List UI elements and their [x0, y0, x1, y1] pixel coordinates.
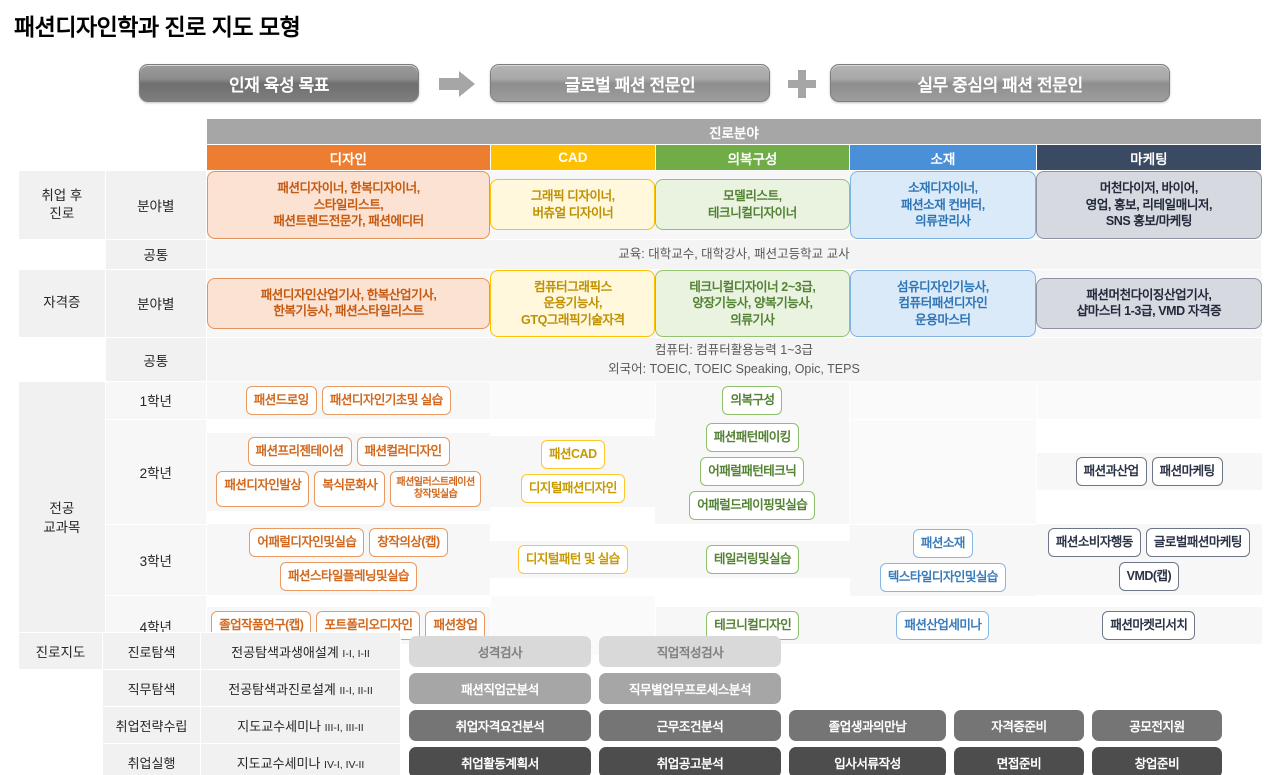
course-box[interactable]: 테일러링및실습	[706, 545, 799, 574]
goal-secondary-pill: 글로벌 패션 전문인	[490, 64, 770, 102]
course-box[interactable]: 복식문화사	[314, 471, 385, 507]
course-list: 패션CAD디지털패션디자인	[490, 436, 655, 507]
course-cell-mat-y2	[850, 419, 1037, 524]
license-common-text: 컴퓨터: 컴퓨터활용능력 1~3급외국어: TOEIC, TOEIC Speak…	[206, 338, 1261, 382]
course-cell-design-y1: 패션드로잉패션디자인기초및 실습	[206, 382, 490, 420]
category-header-mat: 소재	[850, 145, 1037, 171]
career-cell-mkt: 머천다이저, 바이어,영업, 홍보, 리테일매니저,SNS 홍보/마케팅	[1036, 171, 1261, 240]
course-box[interactable]: 패션프리젠테이션	[248, 437, 352, 466]
guidance-course-0: 전공탐색과생애설계 I-I, I-II	[201, 633, 401, 670]
guidance-course-1: 전공탐색과진로설계 II-I, II-II	[201, 670, 401, 707]
sublabel-career-byfield: 분야별	[105, 171, 206, 240]
course-box[interactable]: 의복구성	[722, 386, 782, 415]
course-cell-design-y3: 어패럴디자인및실습창작의상(캡)패션스타일플레닝및실습	[206, 524, 490, 596]
spacer-cell	[19, 119, 106, 145]
guidance-activities-2: 취업자격요건분석근무조건분석졸업생과의만남자격증준비공모전지원	[401, 707, 1263, 744]
guidance-activity[interactable]: 면접준비	[954, 747, 1084, 775]
sublabel-career-common: 공통	[105, 239, 206, 269]
category-header-design: 디자인	[206, 145, 490, 171]
spacer-cell	[105, 119, 206, 145]
sublabel-license-byfield: 분야별	[105, 269, 206, 338]
course-cell-mat-y1	[850, 382, 1037, 420]
year-label-3: 3학년	[105, 524, 206, 596]
guidance-activity[interactable]: 창업준비	[1092, 747, 1222, 775]
course-list: 의복구성	[656, 382, 849, 419]
license-cell-cad: 컴퓨터그래픽스운용기능사,GTQ그래픽기술자격	[490, 269, 655, 338]
section-label-license: 자격증	[19, 269, 106, 338]
course-box[interactable]: 어패럴디자인및실습	[249, 528, 364, 557]
plus-icon	[786, 68, 818, 100]
guidance-activity[interactable]: 공모전지원	[1092, 710, 1222, 741]
guidance-activities-1: 패션직업군분석직무별업무프로세스분석	[401, 670, 1263, 707]
course-cell-mkt-y1	[1036, 382, 1261, 420]
guidance-activity[interactable]: 취업활동계획서	[409, 747, 591, 775]
course-cell-cad-y1	[490, 382, 655, 420]
course-box[interactable]: 어패럴패턴테크닉	[700, 457, 804, 486]
career-matrix-table: 진로분야 디자인CAD의복구성소재마케팅 취업 후진로 분야별패션디자이너, 한…	[18, 118, 1262, 656]
spacer-cell	[19, 707, 103, 744]
year-label-2: 2학년	[105, 419, 206, 524]
guidance-activity-list: 패션직업군분석직무별업무프로세스분석	[401, 670, 1262, 707]
course-box[interactable]: 패션디자인발상	[216, 471, 309, 507]
table-top-header: 진로분야	[206, 119, 1261, 145]
course-box[interactable]: 패션일러스트레이션창작및실습	[390, 471, 480, 507]
guidance-activity[interactable]: 직업적성검사	[599, 636, 781, 667]
course-list: 어패럴디자인및실습창작의상(캡)패션스타일플레닝및실습	[207, 524, 490, 595]
course-box[interactable]: 패션소비자행동	[1048, 528, 1141, 557]
career-cell-cloth: 모델리스트,테크니컬디자이너	[655, 171, 849, 240]
spacer-cell	[19, 670, 103, 707]
course-list: 패션소재텍스타일디자인및실습	[850, 525, 1037, 596]
career-common-text: 교육: 대학교수, 대학강사, 패션고등학교 교사	[206, 239, 1261, 269]
course-box[interactable]: 창작의상(캡)	[369, 528, 447, 557]
course-box[interactable]: 패션소재	[913, 529, 973, 558]
license-cell-mat: 섬유디자인기능사,컴퓨터패션디자인운용마스터	[850, 269, 1037, 338]
right-arrow-icon	[437, 69, 477, 99]
license-chip-design: 패션디자인산업기사, 한복산업기사,한복기능사, 패션스타일리스트	[207, 278, 490, 329]
course-cell-cad-y3: 디지털패턴 및 실습	[490, 524, 655, 596]
course-cell-cloth-y2: 패션패턴메이킹어패럴패턴테크닉어패럴드레이핑및실습	[655, 419, 849, 524]
section-label-curriculum: 전공교과목	[19, 382, 106, 656]
guidance-activities-0: 성격검사직업적성검사	[401, 633, 1263, 670]
spacer-cell	[19, 239, 106, 269]
category-header-cad: CAD	[490, 145, 655, 171]
goal-banner-row: 인재 육성 목표 글로벌 패션 전문인 실무 중심의 패션 전문인	[0, 64, 1280, 112]
course-box[interactable]: 패션스타일플레닝및실습	[280, 562, 417, 591]
category-header-cloth: 의복구성	[655, 145, 849, 171]
course-box[interactable]: 디지털패턴 및 실습	[518, 545, 628, 574]
license-cell-cloth: 테크니컬디자이너 2~3급,양장기능사, 양복기능사,의류기사	[655, 269, 849, 338]
course-box[interactable]: 텍스타일디자인및실습	[880, 563, 1006, 592]
course-box[interactable]: VMD(캡)	[1119, 562, 1180, 591]
guidance-stage-0: 진로탐색	[103, 633, 201, 670]
goal-primary-pill: 인재 육성 목표	[139, 64, 419, 102]
career-cell-cad: 그래픽 디자이너,버츄얼 디자이너	[490, 171, 655, 240]
course-cell-mkt-y2: 패션과산업패션마케팅	[1036, 419, 1261, 524]
career-cell-mat: 소재디자이너,패션소재 컨버터,의류관리사	[850, 171, 1037, 240]
guidance-course-3: 지도교수세미나 IV-I, IV-II	[201, 744, 401, 775]
course-box[interactable]: 패션CAD	[541, 440, 605, 469]
course-list: 디지털패턴 및 실습	[490, 541, 655, 578]
career-chip-mkt: 머천다이저, 바이어,영업, 홍보, 리테일매니저,SNS 홍보/마케팅	[1036, 171, 1261, 239]
guidance-activity[interactable]: 취업공고분석	[599, 747, 781, 775]
guidance-activity[interactable]: 패션직업군분석	[409, 673, 591, 704]
goal-tertiary-pill: 실무 중심의 패션 전문인	[830, 64, 1170, 102]
guidance-label: 진로지도	[19, 633, 103, 670]
course-box[interactable]: 디지털패션디자인	[521, 474, 625, 503]
page-title: 패션디자인학과 진로 지도 모형	[14, 8, 300, 42]
guidance-activity[interactable]: 성격검사	[409, 636, 591, 667]
career-chip-design: 패션디자이너, 한복디자이너,스타일리스트,패션트렌드전문가, 패션에디터	[207, 171, 490, 239]
section-label-career: 취업 후진로	[19, 171, 106, 240]
guidance-stage-1: 직무탐색	[103, 670, 201, 707]
license-chip-cad: 컴퓨터그래픽스운용기능사,GTQ그래픽기술자격	[490, 270, 655, 338]
course-cell-mat-y3: 패션소재텍스타일디자인및실습	[850, 524, 1037, 596]
sublabel-license-common: 공통	[105, 338, 206, 382]
course-box[interactable]: 패션과산업	[1076, 457, 1147, 486]
guidance-activity-list: 취업자격요건분석근무조건분석졸업생과의만남자격증준비공모전지원	[401, 707, 1262, 744]
course-box[interactable]: 패션컬러디자인	[357, 437, 450, 466]
course-cell-cloth-y3: 테일러링및실습	[655, 524, 849, 596]
career-chip-mat: 소재디자이너,패션소재 컨버터,의류관리사	[850, 171, 1037, 239]
guidance-stage-2: 취업전략수립	[103, 707, 201, 744]
spacer-cell	[105, 145, 206, 171]
guidance-activities-3: 취업활동계획서취업공고분석입사서류작성면접준비창업준비	[401, 744, 1263, 775]
course-box[interactable]: 패션마케팅	[1152, 457, 1223, 486]
course-box[interactable]: 패션패턴메이킹	[706, 423, 799, 452]
category-header-mkt: 마케팅	[1036, 145, 1261, 171]
guidance-activity[interactable]: 입사서류작성	[789, 747, 946, 775]
course-cell-design-y2: 패션프리젠테이션패션컬러디자인패션디자인발상복식문화사패션일러스트레이션창작및실…	[206, 419, 490, 524]
course-box[interactable]: 패션디자인기초및 실습	[322, 386, 451, 415]
course-box[interactable]: 글로벌패션마케팅	[1146, 528, 1250, 557]
course-cell-cad-y2: 패션CAD디지털패션디자인	[490, 419, 655, 524]
guidance-activity[interactable]: 취업자격요건분석	[409, 710, 591, 741]
guidance-activity[interactable]: 근무조건분석	[599, 710, 781, 741]
guidance-activity-list: 성격검사직업적성검사	[401, 633, 1262, 670]
license-chip-mat: 섬유디자인기능사,컴퓨터패션디자인운용마스터	[850, 270, 1037, 338]
license-cell-design: 패션디자인산업기사, 한복산업기사,한복기능사, 패션스타일리스트	[206, 269, 490, 338]
course-list: 패션드로잉패션디자인기초및 실습	[207, 382, 490, 419]
course-cell-mkt-y3: 패션소비자행동글로벌패션마케팅VMD(캡)	[1036, 524, 1261, 596]
year-label-1: 1학년	[105, 382, 206, 420]
course-cell-cloth-y1: 의복구성	[655, 382, 849, 420]
course-list: 패션패턴메이킹어패럴패턴테크닉어패럴드레이핑및실습	[655, 419, 849, 524]
course-list: 패션소비자행동글로벌패션마케팅VMD(캡)	[1036, 524, 1261, 595]
guidance-stage-3: 취업실행	[103, 744, 201, 775]
career-cell-design: 패션디자이너, 한복디자이너,스타일리스트,패션트렌드전문가, 패션에디터	[206, 171, 490, 240]
course-list: 패션과산업패션마케팅	[1037, 453, 1262, 490]
course-list: 테일러링및실습	[655, 541, 849, 578]
course-box[interactable]: 패션드로잉	[246, 386, 317, 415]
career-guidance-table: 진로지도진로탐색전공탐색과생애설계 I-I, I-II성격검사직업적성검사직무탐…	[18, 632, 1262, 775]
guidance-activity[interactable]: 졸업생과의만남	[789, 710, 946, 741]
spacer-cell	[19, 145, 106, 171]
course-list: 패션프리젠테이션패션컬러디자인패션디자인발상복식문화사패션일러스트레이션창작및실…	[207, 433, 490, 511]
guidance-activity[interactable]: 자격증준비	[954, 710, 1084, 741]
career-chip-cad: 그래픽 디자이너,버츄얼 디자이너	[490, 179, 655, 230]
license-cell-mkt: 패션머천다이징산업기사,샵마스터 1-3급, VMD 자격증	[1036, 269, 1261, 338]
license-chip-mkt: 패션머천다이징산업기사,샵마스터 1-3급, VMD 자격증	[1036, 278, 1261, 329]
spacer-cell	[19, 338, 106, 382]
license-chip-cloth: 테크니컬디자이너 2~3급,양장기능사, 양복기능사,의류기사	[655, 270, 849, 338]
spacer-cell	[19, 744, 103, 775]
guidance-course-2: 지도교수세미나 III-I, III-II	[201, 707, 401, 744]
course-box[interactable]: 어패럴드레이핑및실습	[689, 491, 815, 520]
career-chip-cloth: 모델리스트,테크니컬디자이너	[655, 179, 849, 230]
guidance-activity[interactable]: 직무별업무프로세스분석	[599, 673, 781, 704]
guidance-activity-list: 취업활동계획서취업공고분석입사서류작성면접준비창업준비	[401, 744, 1263, 775]
